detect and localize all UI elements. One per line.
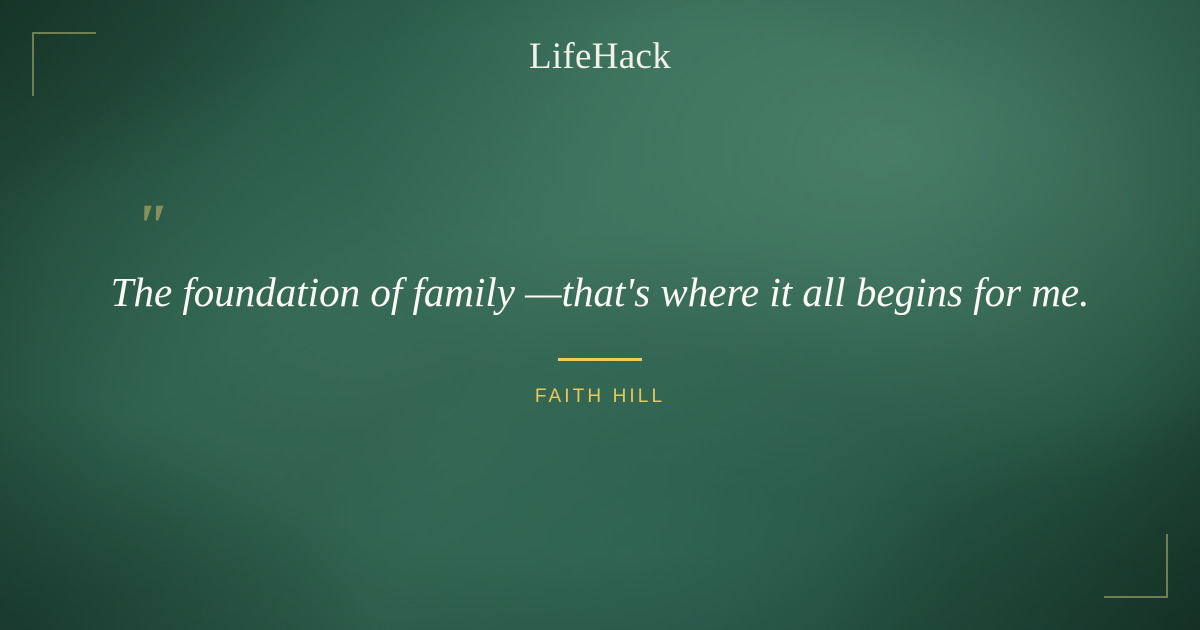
quote-card: LifeHack " The foundation of family —tha…: [0, 0, 1200, 630]
quote-author: FAITH HILL: [0, 386, 1200, 408]
quotation-mark-icon: ": [133, 196, 167, 258]
quote-divider: [558, 358, 642, 361]
brand-logo: LifeHack: [0, 38, 1200, 75]
quote-text: The foundation of family —that's where i…: [50, 266, 1150, 318]
